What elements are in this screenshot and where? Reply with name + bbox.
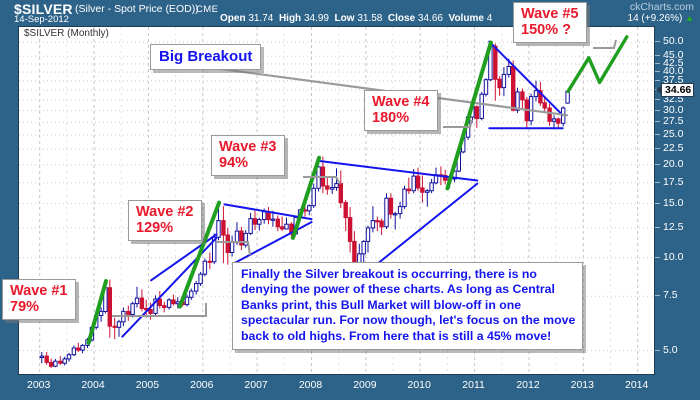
- y-tick-mark: [655, 203, 660, 204]
- chart-header: $SILVER (Silver - Spot Price (EOD)) CME …: [0, 0, 700, 26]
- y-tick-label: 20.0: [663, 158, 683, 170]
- symbol-description: (Silver - Spot Price (EOD)): [75, 3, 199, 15]
- x-tick-label: 2013: [571, 379, 594, 391]
- exchange-label: CME: [196, 4, 218, 15]
- price-change-value: 14 (+9.26%): [628, 13, 683, 24]
- ohlc-quote-line: Open 31.74 High 34.99 Low 31.58 Close 34…: [220, 13, 492, 24]
- wave-2-percent: 129%: [136, 220, 194, 236]
- wave-5-title: Wave #5: [521, 6, 579, 22]
- x-tick-label: 2004: [81, 379, 104, 391]
- callout-wave-5[interactable]: Wave #5 150% ?: [513, 2, 587, 43]
- x-tick-label: 2006: [190, 379, 213, 391]
- wave-3-title: Wave #3: [219, 139, 277, 155]
- x-tick-label: 2009: [353, 379, 376, 391]
- up-triangle-icon: ▲: [685, 13, 694, 23]
- comment-line-2: denying the power of these charts. As lo…: [241, 282, 575, 297]
- x-tick-label: 2007: [244, 379, 267, 391]
- y-tick-mark: [655, 295, 660, 296]
- comment-line-5: back to old highs. From here that is sti…: [241, 329, 575, 344]
- high-label: High: [279, 13, 301, 24]
- y-tick-mark: [655, 350, 660, 351]
- low-value: 31.58: [357, 13, 382, 24]
- plot-title: $SILVER (Monthly): [22, 28, 111, 39]
- y-tick-label: 7.5: [663, 289, 678, 301]
- volume-label: Volume: [449, 13, 484, 24]
- wave-1-title: Wave #1: [10, 283, 68, 299]
- x-tick-label: 2010: [408, 379, 431, 391]
- y-tick-mark: [655, 148, 660, 149]
- y-tick-label: 5.0: [663, 344, 678, 356]
- annotation-commentary[interactable]: Finally the Silver breakout is occurring…: [232, 262, 583, 350]
- open-label: Open: [220, 13, 246, 24]
- price-change: 14 (+9.26%) ▲: [628, 13, 694, 24]
- open-value: 31.74: [248, 13, 273, 24]
- y-tick-label: 17.5: [663, 176, 683, 188]
- stockcharts-screenshot: $SILVER (Silver - Spot Price (EOD)) CME …: [0, 0, 700, 400]
- low-label: Low: [335, 13, 355, 24]
- y-tick-mark: [655, 121, 660, 122]
- y-tick-label: 27.5: [663, 115, 683, 127]
- x-tick-label: 2012: [516, 379, 539, 391]
- y-tick-label: 15.0: [663, 197, 683, 209]
- wave-4-percent: 180%: [372, 110, 430, 126]
- y-tick-label: 10.0: [663, 251, 683, 263]
- y-tick-mark: [655, 134, 660, 135]
- callout-wave-4[interactable]: Wave #4 180%: [364, 90, 438, 131]
- volume-value: 4: [487, 13, 493, 24]
- comment-line-4: spectacular run. For now though, let's f…: [241, 313, 575, 328]
- y-tick-label: 25.0: [663, 128, 683, 140]
- brand-watermark: ckCharts.com: [630, 1, 694, 13]
- y-tick-mark: [655, 110, 660, 111]
- wave-4-title: Wave #4: [372, 94, 430, 110]
- y-tick-mark: [655, 182, 660, 183]
- y-tick-label: 45.0: [663, 49, 683, 61]
- y-tick-mark: [655, 63, 660, 64]
- y-tick-mark: [655, 257, 660, 258]
- comment-line-3: Banks print, this Bull Market will blow-…: [241, 298, 575, 313]
- quote-date: 14-Sep-2012: [14, 14, 69, 25]
- big-breakout-text: Big Breakout: [159, 48, 252, 65]
- close-label: Close: [388, 13, 415, 24]
- y-tick-label: 50.0: [663, 35, 683, 47]
- y-tick-mark: [655, 99, 660, 100]
- y-tick-label: 12.5: [663, 221, 683, 233]
- wave-3-percent: 94%: [219, 155, 277, 171]
- y-tick-mark: [655, 55, 660, 56]
- callout-wave-3[interactable]: Wave #3 94%: [211, 135, 285, 176]
- y-tick-mark: [655, 41, 660, 42]
- annotation-big-breakout[interactable]: Big Breakout: [150, 44, 261, 70]
- callout-wave-1[interactable]: Wave #1 79%: [2, 279, 76, 320]
- x-tick-label: 2008: [299, 379, 322, 391]
- y-tick-mark: [655, 227, 660, 228]
- comment-line-1: Finally the Silver breakout is occurring…: [241, 267, 575, 282]
- x-tick-label: 2003: [27, 379, 50, 391]
- current-price-tag: 34.66: [661, 83, 694, 97]
- y-axis: 5.07.510.012.515.017.520.022.525.027.530…: [655, 26, 700, 375]
- wave-2-title: Wave #2: [136, 204, 194, 220]
- high-value: 34.99: [304, 13, 329, 24]
- y-tick-label: 30.0: [663, 104, 683, 116]
- y-tick-mark: [655, 164, 660, 165]
- callout-wave-2[interactable]: Wave #2 129%: [128, 200, 202, 241]
- wave-5-percent: 150% ?: [521, 22, 579, 38]
- x-tick-label: 2014: [625, 379, 648, 391]
- y-tick-label: 22.5: [663, 142, 683, 154]
- y-tick-mark: [655, 71, 660, 72]
- close-value: 34.66: [418, 13, 443, 24]
- x-axis: 2003200420052006200720082009201020112012…: [0, 376, 700, 400]
- y-tick-mark: [655, 80, 660, 81]
- x-tick-label: 2011: [462, 379, 485, 391]
- wave-1-percent: 79%: [10, 299, 68, 315]
- x-tick-label: 2005: [136, 379, 159, 391]
